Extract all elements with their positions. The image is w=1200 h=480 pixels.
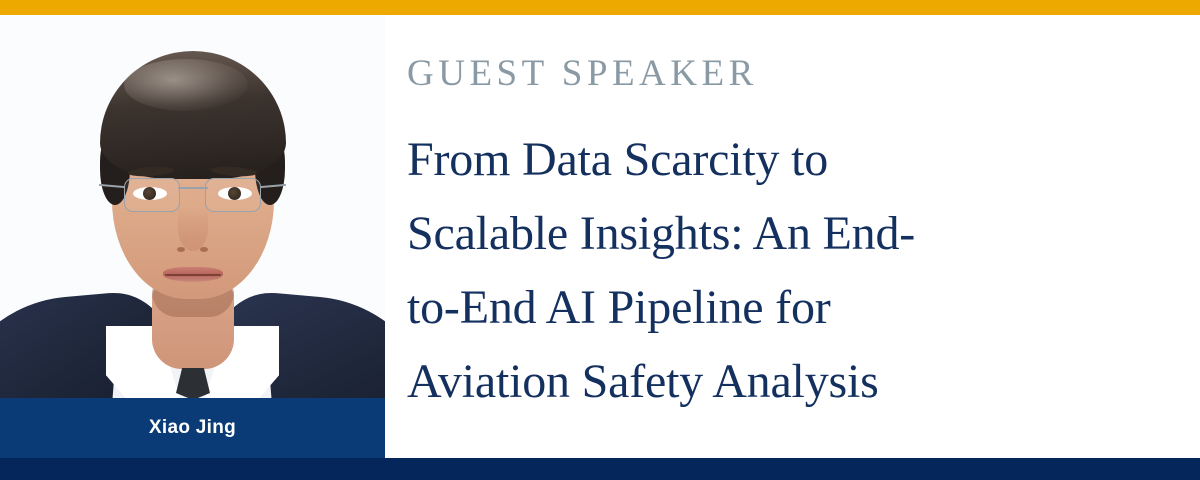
- speaker-announcement-banner: Xiao Jing GUEST SPEAKER From Data Scarci…: [0, 0, 1200, 480]
- talk-title: From Data Scarcity toScalable Insights: …: [407, 123, 1127, 419]
- speaker-name-plate: Xiao Jing: [0, 398, 385, 458]
- talk-title-line: Aviation Safety Analysis: [407, 345, 1127, 419]
- speaker-name: Xiao Jing: [149, 417, 236, 439]
- announcement-content: GUEST SPEAKER From Data Scarcity toScala…: [407, 15, 1167, 458]
- nose: [178, 207, 208, 251]
- talk-title-line: From Data Scarcity to: [407, 123, 1127, 197]
- nostril-left: [177, 247, 185, 252]
- speaker-portrait-photo: [0, 15, 385, 458]
- hair-highlight: [124, 59, 248, 111]
- talk-title-line: Scalable Insights: An End-: [407, 197, 1127, 271]
- eyeglass-lens-right: [205, 178, 261, 212]
- eyebrow-label: GUEST SPEAKER: [407, 52, 758, 95]
- nostril-right: [200, 247, 208, 252]
- top-gold-rule: [0, 0, 1200, 15]
- eyeglass-lens-left: [124, 178, 180, 212]
- speaker-photo-panel: [0, 15, 385, 458]
- eyeglass-bridge: [178, 187, 208, 189]
- bottom-navy-rule: [0, 458, 1200, 480]
- talk-title-line: to-End AI Pipeline for: [407, 271, 1127, 345]
- mouth-line: [165, 274, 221, 276]
